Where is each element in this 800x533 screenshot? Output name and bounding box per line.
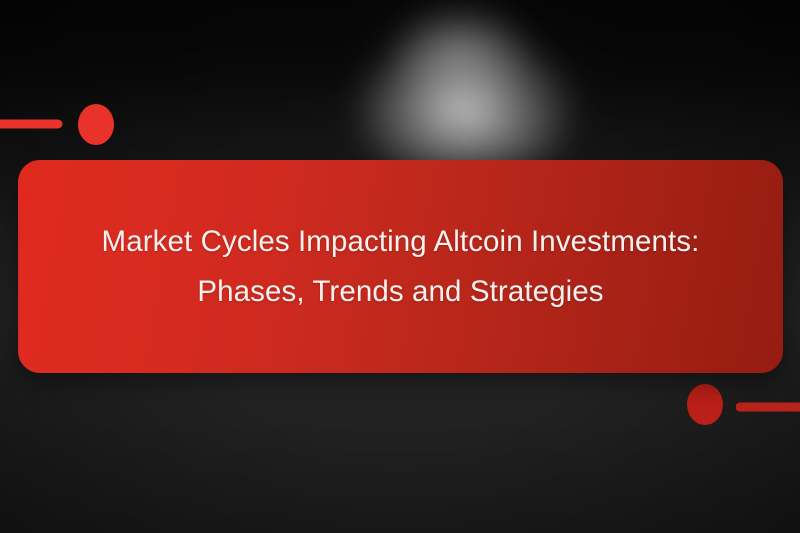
title-line-2: Phases, Trends and Strategies <box>102 267 700 317</box>
title-line-1: Market Cycles Impacting Altcoin Investme… <box>102 217 700 267</box>
page-title: Market Cycles Impacting Altcoin Investme… <box>56 217 746 316</box>
banner-graphic: Market Cycles Impacting Altcoin Investme… <box>0 0 800 533</box>
title-card: Market Cycles Impacting Altcoin Investme… <box>18 160 783 373</box>
